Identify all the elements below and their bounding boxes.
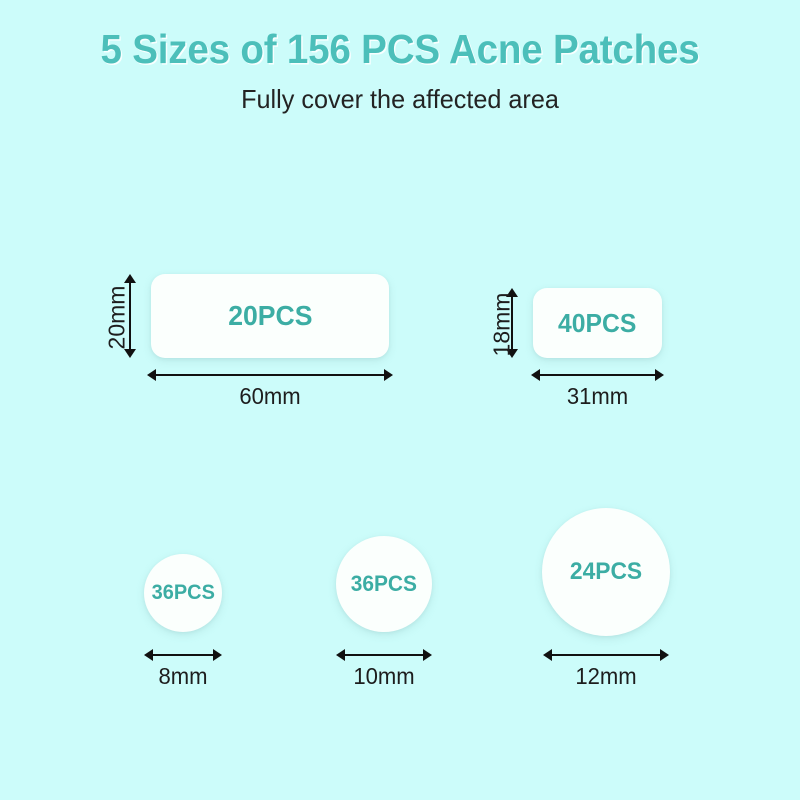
patch-count-label: 24PCS	[570, 558, 642, 586]
dimension-arrow-horizontal-12mm	[543, 648, 669, 662]
page-subtitle: Fully cover the affected area	[12, 84, 788, 115]
dimension-line	[538, 374, 657, 376]
patch-count-label: 40PCS	[558, 308, 636, 339]
patch-circle-36pcs-8mm: 36PCS	[144, 554, 222, 632]
patch-circle-36pcs-10mm: 36PCS	[336, 536, 432, 632]
arrowhead-right-icon	[660, 649, 669, 661]
infographic-canvas: 5 Sizes of 156 PCS Acne Patches Fully co…	[0, 0, 800, 800]
dimension-arrow-horizontal-10mm	[336, 648, 432, 662]
patch-count-label: 36PCS	[151, 581, 214, 605]
dimension-label-10mm: 10mm	[317, 663, 451, 690]
arrowhead-right-icon	[384, 369, 393, 381]
dimension-line	[343, 654, 425, 656]
dimension-label-12mm: 12mm	[539, 663, 673, 690]
dimension-line	[154, 374, 386, 376]
patch-count-label: 20PCS	[228, 300, 312, 332]
dimension-label-8mm: 8mm	[125, 663, 240, 690]
arrowhead-right-icon	[655, 369, 664, 381]
page-title: 5 Sizes of 156 PCS Acne Patches	[24, 26, 776, 73]
dimension-line	[151, 654, 215, 656]
dimension-arrow-horizontal-60mm	[147, 368, 393, 382]
arrowhead-right-icon	[423, 649, 432, 661]
dimension-label-20mm: 20mm	[104, 273, 131, 363]
dimension-arrow-horizontal-8mm	[144, 648, 222, 662]
patch-rect-40pcs: 40PCS	[533, 288, 662, 358]
patch-rect-20pcs: 20PCS	[151, 274, 389, 358]
patch-count-label: 36PCS	[351, 571, 417, 597]
dimension-label-60mm: 60mm	[152, 383, 388, 410]
patch-circle-24pcs-12mm: 24PCS	[542, 508, 670, 636]
dimension-line	[550, 654, 662, 656]
dimension-label-18mm: 18mm	[489, 280, 516, 370]
dimension-arrow-horizontal-31mm	[531, 368, 664, 382]
dimension-label-31mm: 31mm	[524, 383, 671, 410]
arrowhead-right-icon	[213, 649, 222, 661]
